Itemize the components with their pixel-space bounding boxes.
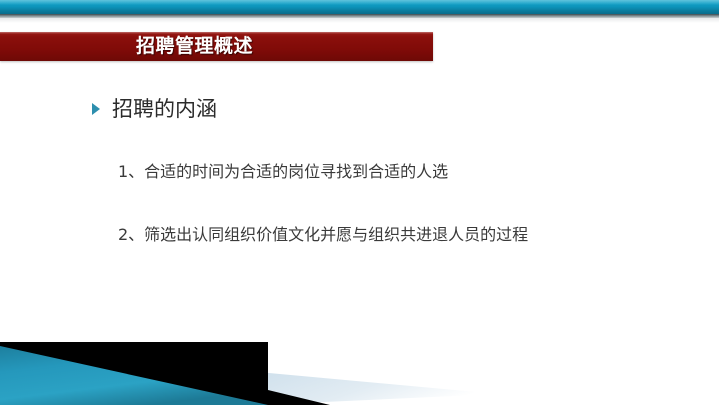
content-point-2: 2、筛选出认同组织价值文化并愿与组织共进退人员的过程 bbox=[118, 223, 528, 247]
footer-teal-wedge bbox=[0, 346, 268, 405]
content-point-1: 1、合适的时间为合适的岗位寻找到合适的人选 bbox=[118, 160, 448, 184]
slide-canvas: 招聘管理概述 招聘的内涵 1、合适的时间为合适的岗位寻找到合适的人选 2、筛选出… bbox=[0, 0, 719, 405]
top-accent-band bbox=[0, 0, 719, 14]
slide-title: 招聘管理概述 bbox=[136, 33, 426, 60]
footer-pale-wedge-2 bbox=[258, 372, 498, 405]
top-accent-band-fade bbox=[0, 18, 719, 23]
footer-pale-wedge bbox=[250, 378, 500, 398]
footer-black-tail bbox=[268, 390, 330, 405]
triangle-right-icon bbox=[92, 103, 100, 115]
footer-black-block bbox=[0, 342, 268, 405]
content-heading-row: 招聘的内涵 bbox=[92, 95, 217, 123]
content-heading-label: 招聘的内涵 bbox=[112, 95, 217, 123]
top-accent-band-highlight bbox=[0, 0, 719, 5]
